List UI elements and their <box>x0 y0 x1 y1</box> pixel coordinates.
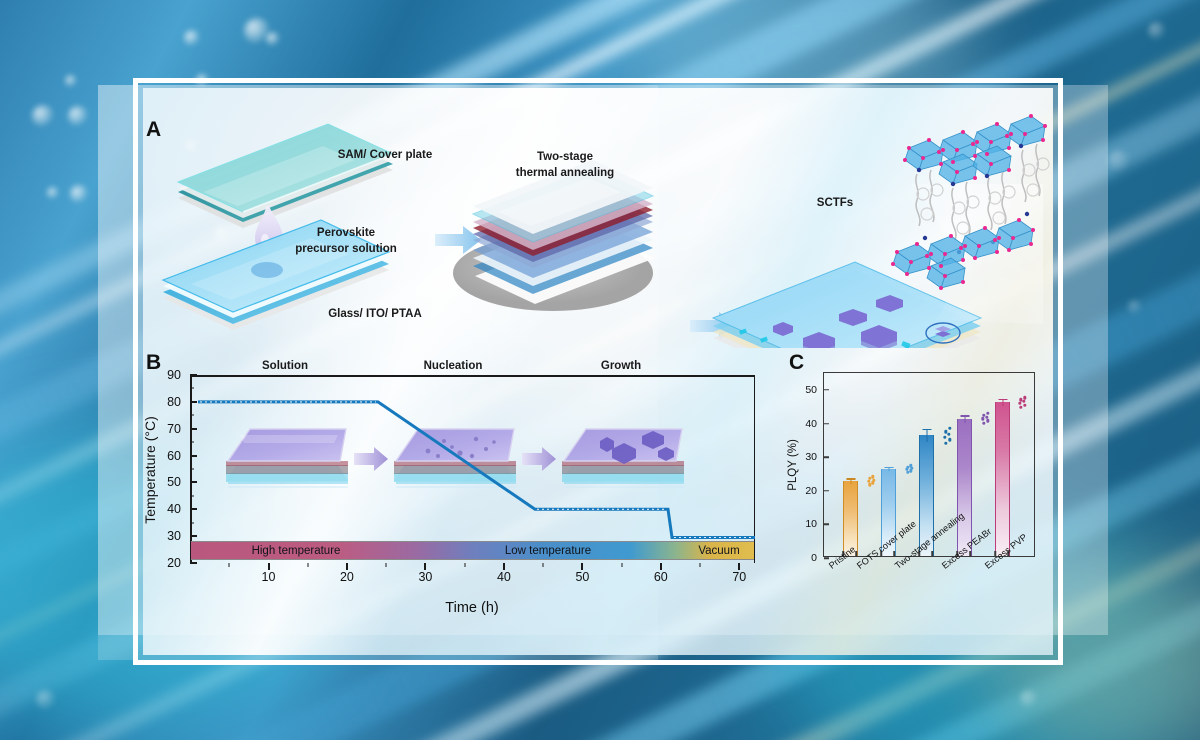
y-tick-mark <box>824 524 829 526</box>
x-tick-mark-minor <box>307 563 308 567</box>
error-bar-line <box>850 478 851 484</box>
scatter-pristine <box>865 371 877 556</box>
x-tick-mark <box>893 551 895 556</box>
x-tick-label: 50 <box>575 563 589 584</box>
label-precursor-solution: Perovskite precursor solution <box>266 226 426 257</box>
panel-label-b: B <box>146 351 162 375</box>
bokeh-circle <box>68 106 88 126</box>
error-bar-line <box>926 429 927 442</box>
x-tick-label: 40 <box>497 563 511 584</box>
x-tick-label: 30 <box>418 563 432 584</box>
y-tick-mark <box>824 423 829 425</box>
bokeh-circle <box>1108 150 1130 172</box>
label-cover-plate: SAM/ Cover plate <box>300 148 470 164</box>
stage-label-growth: Growth <box>573 359 669 375</box>
bokeh-circle <box>1020 690 1038 708</box>
figure-stage: A B C <box>0 0 1200 740</box>
panel-c-y-axis-label: PLQY (%) <box>787 439 799 491</box>
error-bar-line <box>964 415 965 422</box>
y-tick-label: 30 <box>167 529 190 543</box>
y-tick-label: 50 <box>805 384 824 396</box>
x-tick-mark-minor <box>543 563 544 567</box>
error-bar-line <box>888 467 889 472</box>
bar-excess-pvp <box>995 402 1010 556</box>
y-tick-label: 70 <box>167 422 190 436</box>
y-tick-label: 20 <box>805 485 824 497</box>
bokeh-circle <box>32 105 54 127</box>
stage-label-solution: Solution <box>237 359 333 375</box>
stage-label-nucleation: Nucleation <box>405 359 501 375</box>
bokeh-circle <box>184 30 200 46</box>
bokeh-circle <box>1148 22 1166 40</box>
right-arrow-icon <box>354 447 388 471</box>
y-tick-label: 20 <box>167 556 190 570</box>
y-tick-label: 40 <box>167 502 190 516</box>
y-tick-label: 10 <box>805 518 824 530</box>
y-tick-label: 90 <box>167 368 190 382</box>
bokeh-circle <box>1128 300 1142 314</box>
regime-label-high-temperature: High temperature <box>252 545 341 557</box>
right-arrow-icon <box>522 447 556 471</box>
panel-b-y-axis-label: Temperature (°C) <box>142 416 158 524</box>
scatter-excess-pvp <box>1017 371 1029 556</box>
bokeh-circle <box>266 32 280 46</box>
x-tick-label: 60 <box>654 563 668 584</box>
y-tick-mark <box>824 490 829 492</box>
stage-illustration-solution <box>226 429 348 487</box>
y-tick-label: 0 <box>811 552 824 564</box>
x-tick-mark-minor <box>700 563 701 567</box>
stage-illustration-nucleation <box>394 429 516 487</box>
thermal-annealing-stack <box>453 160 655 311</box>
y-tick-mark <box>824 456 829 458</box>
error-bar-line <box>1002 399 1003 406</box>
y-tick-mark <box>824 557 829 559</box>
x-tick-label: 70 <box>732 563 746 584</box>
panel-b-stage-illustrations <box>190 375 755 563</box>
x-tick-mark <box>931 551 933 556</box>
bokeh-circle <box>47 187 59 199</box>
label-sctfs: SCTFs <box>790 196 880 212</box>
bokeh-circle <box>65 75 77 87</box>
panel-b-x-axis-label: Time (h) <box>445 600 498 616</box>
x-tick-mark-minor <box>229 563 230 567</box>
panel-label-c: C <box>789 351 805 375</box>
x-tick-mark-minor <box>464 563 465 567</box>
x-tick-label: 20 <box>340 563 354 584</box>
regime-label-vacuum: Vacuum <box>698 545 739 557</box>
y-tick-label: 30 <box>805 451 824 463</box>
label-substrate: Glass/ ITO/ PTAA <box>290 307 460 323</box>
bar-excess-peabr <box>957 419 972 556</box>
y-tick-label: 50 <box>167 475 190 489</box>
bokeh-circle <box>70 185 88 203</box>
y-tick-mark <box>824 389 829 391</box>
panel-c-plot: 0 10 20 30 40 50 <box>823 372 1035 557</box>
y-tick-label: 80 <box>167 395 190 409</box>
cover-plate-stack <box>178 124 393 228</box>
bokeh-circle <box>36 690 56 710</box>
panel-b-regime-band: High temperature Low temperature Vacuum <box>191 541 754 560</box>
x-tick-mark-minor <box>621 563 622 567</box>
y-tick-label: 40 <box>805 418 824 430</box>
x-tick-mark-minor <box>386 563 387 567</box>
x-tick-label: 10 <box>262 563 276 584</box>
stage-illustration-growth <box>562 429 684 487</box>
label-thermal-annealing: Two-stage thermal annealing <box>485 150 645 181</box>
panel-a-schematic <box>143 88 1053 348</box>
panel-b-plot: 90 80 70 60 50 40 30 20 <box>190 375 755 563</box>
regime-label-low-temperature: Low temperature <box>505 545 591 557</box>
y-tick-label: 60 <box>167 449 190 463</box>
